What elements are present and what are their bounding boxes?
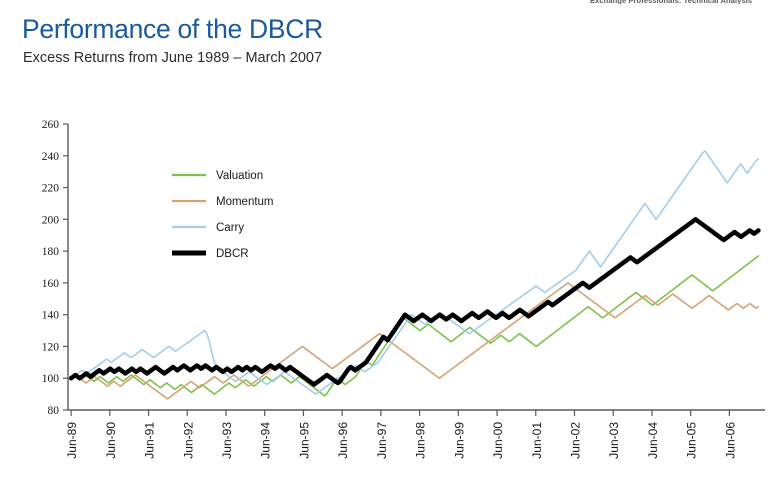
y-axis-tick-label: 140 [42,310,60,322]
y-axis-tick-label: 220 [42,183,60,195]
x-axis-tick-label: Jun-04 [646,422,660,459]
performance-line-chart: 80100120140160180200220240260 Jun-89Jun-… [0,0,770,492]
x-axis-tick-label: Jun-97 [375,422,389,459]
chart-page: Exchange Professionals: Technical Analys… [0,0,770,492]
y-axis-tick-label: 180 [42,246,60,258]
y-axis-tick-label: 160 [42,278,60,290]
x-axis-tick-label: Jun-92 [181,422,195,459]
x-axis-tick-label: Jun-91 [143,422,157,459]
x-axis-tick-label: Jun-05 [685,422,699,459]
y-axis-tick-label: 100 [42,373,60,385]
x-axis-tick-label: Jun-02 [568,422,582,459]
y-axis-tick-label: 80 [48,405,60,417]
x-axis-tick-label: Jun-95 [297,422,311,459]
x-axis-tick-label: Jun-98 [414,422,428,459]
series-line-momentum [71,283,758,399]
y-axis-tick-label: 240 [42,151,60,163]
legend-label-momentum: Momentum [216,196,274,208]
series-line-valuation [71,256,758,396]
legend-label-dbcr: DBCR [216,248,249,260]
y-axis-tick-label: 120 [42,341,60,353]
x-axis-tick-label: Jun-90 [104,422,118,459]
legend-label-valuation: Valuation [216,170,263,182]
x-axis-tick-label: Jun-06 [723,422,737,459]
x-axis-tick-label: Jun-00 [491,422,505,459]
x-axis-tick-label: Jun-03 [607,422,621,459]
x-axis: Jun-89Jun-90Jun-91Jun-92Jun-93Jun-94Jun-… [65,410,765,459]
x-axis-tick-label: Jun-99 [452,422,466,459]
x-axis-tick-label: Jun-89 [65,422,79,459]
y-axis-tick-label: 260 [42,119,60,131]
legend-label-carry: Carry [216,222,244,234]
x-axis-tick-label: Jun-96 [336,422,350,459]
x-axis-tick-label: Jun-93 [220,422,234,459]
series-lines [71,151,758,399]
chart-legend: ValuationMomentumCarryDBCR [172,170,274,260]
y-axis: 80100120140160180200220240260 [42,119,68,417]
chart-plot-area: 80100120140160180200220240260 Jun-89Jun-… [0,0,770,492]
x-axis-tick-label: Jun-01 [530,422,544,459]
y-axis-tick-label: 200 [42,214,60,226]
series-line-carry [71,151,758,394]
x-axis-tick-label: Jun-94 [259,422,273,459]
